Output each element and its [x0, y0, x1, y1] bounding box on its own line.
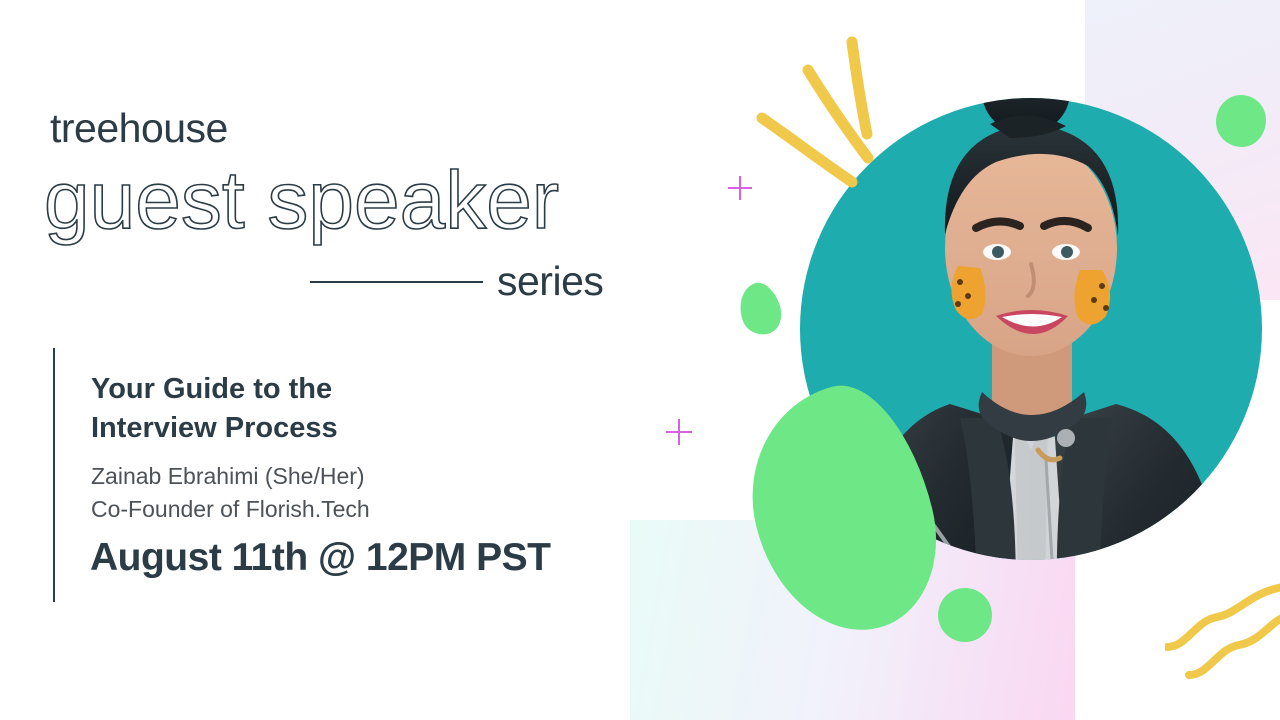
speaker-role: Co-Founder of Florish.Tech: [91, 493, 370, 526]
session-title-line-2: Interview Process: [91, 409, 521, 448]
yellow-wave-icon: [1165, 575, 1280, 685]
series-divider-rule: [310, 281, 483, 283]
speaker-info: Zainab Ebrahimi (She/Her) Co-Founder of …: [91, 460, 370, 525]
green-blob-small-upper-icon: [733, 278, 787, 340]
plus-mark-lower-icon: [666, 419, 692, 445]
session-title: Your Guide to the Interview Process: [91, 370, 521, 447]
speaker-name: Zainab Ebrahimi (She/Her): [91, 460, 370, 493]
brand-wordmark: treehouse: [50, 105, 228, 152]
vertical-accent-rule: [53, 348, 55, 602]
session-title-line-1: Your Guide to the: [91, 370, 521, 409]
slide-canvas: treehouse guest speaker series Your Guid…: [0, 0, 1280, 720]
headline-outline-text: guest speaker: [44, 160, 559, 242]
series-word: series: [497, 258, 603, 305]
session-datetime: August 11th @ 12PM PST: [90, 536, 550, 580]
plus-mark-upper-icon: [728, 176, 752, 200]
green-blob-round-icon: [938, 588, 992, 642]
